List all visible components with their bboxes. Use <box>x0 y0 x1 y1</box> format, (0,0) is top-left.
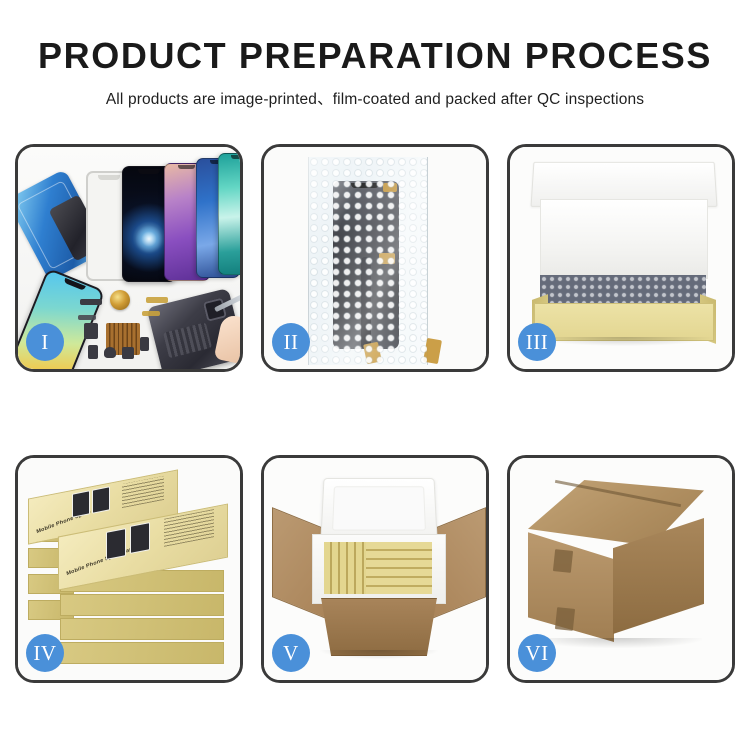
page-title: PRODUCT PREPARATION PROCESS <box>0 38 750 74</box>
step-badge-1: I <box>26 323 64 361</box>
box-front-panel-icon <box>534 303 714 341</box>
phone-thumbnail-icon <box>92 486 110 513</box>
fanned-phone-teal-icon <box>218 153 240 275</box>
drop-shadow <box>320 650 438 659</box>
carton-front-panel-icon <box>316 598 442 656</box>
copper-coil-icon <box>110 290 130 310</box>
chip-part-icon <box>88 345 98 359</box>
chip-part-icon <box>80 299 102 305</box>
flex-cable-icon <box>146 297 168 303</box>
stacked-yellow-boxes-horizontal-icon <box>366 542 432 594</box>
step-badge-6: VI <box>518 634 556 672</box>
step-panel-1: I <box>15 144 243 372</box>
drop-shadow <box>532 638 702 648</box>
plastic-sheen-overlay <box>308 157 426 365</box>
step-badge-5: V <box>272 634 310 672</box>
step-panel-3: III <box>507 144 735 372</box>
white-foam-sheet-icon <box>540 199 708 279</box>
step-panel-2: II <box>261 144 489 372</box>
flex-cable-icon <box>142 311 160 316</box>
tape-patch-icon <box>553 549 573 573</box>
drop-shadow <box>536 337 712 346</box>
box-edge-icon <box>60 618 224 640</box>
step-panel-6: VI <box>507 455 735 683</box>
phone-thumbnail-icon <box>106 528 126 560</box>
page-header: PRODUCT PREPARATION PROCESS All products… <box>0 0 750 109</box>
page-subtitle: All products are image-printed、film-coat… <box>0 87 750 109</box>
step-panel-4: Mobile Phone Spare Parts Mobile Phone Sp… <box>15 455 243 683</box>
box-edge-icon <box>60 594 224 616</box>
foam-cavity-icon <box>324 542 432 594</box>
speaker-part-icon <box>104 347 116 358</box>
chip-part-icon <box>84 323 98 339</box>
phone-thumbnail-icon <box>72 490 90 517</box>
step-badge-4: IV <box>26 634 64 672</box>
box-edge-icon <box>60 642 224 664</box>
step-panel-5: V <box>261 455 489 683</box>
battery-part-icon <box>140 337 149 351</box>
step-badge-2: II <box>272 323 310 361</box>
step-badge-3: III <box>518 323 556 361</box>
phone-thumbnail-icon <box>130 522 150 554</box>
flex-cable-icon <box>78 315 96 320</box>
chip-part-icon <box>122 347 134 359</box>
tape-patch-icon <box>555 607 575 631</box>
foam-lid-icon <box>320 478 437 540</box>
process-steps-grid: I II <box>15 144 735 683</box>
stacked-yellow-boxes-vertical-icon <box>324 542 366 594</box>
